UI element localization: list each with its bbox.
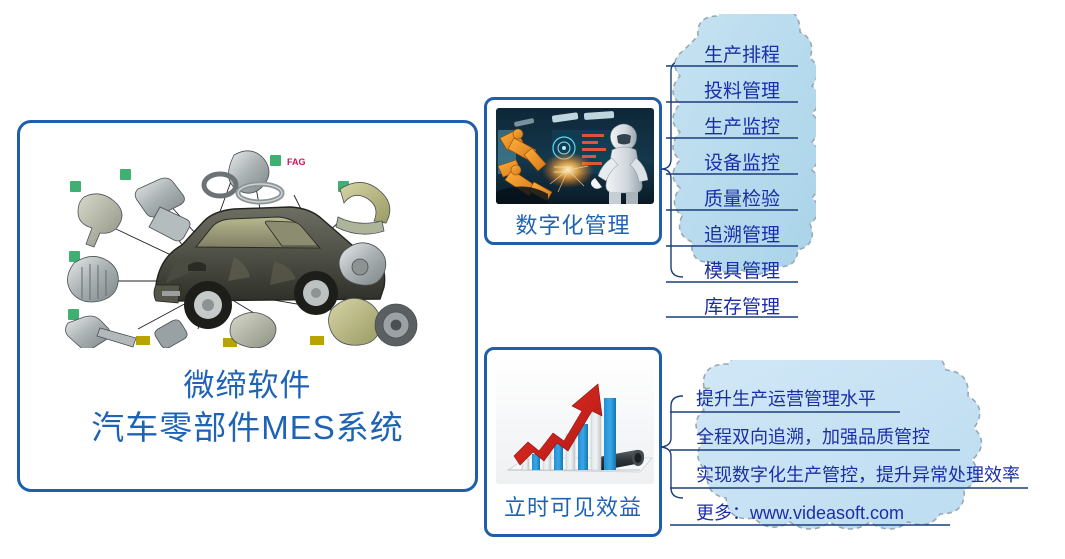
modules-underlines: [662, 14, 802, 324]
benefits-underlines: [668, 360, 1038, 540]
card-digital-management-label: 数字化管理: [487, 208, 659, 240]
car-exploded-parts-illustration: FAG FAG: [38, 133, 458, 348]
card-visible-benefit-label: 立时可见效益: [487, 490, 659, 522]
growth-bar-chart-arrow-photo: [496, 358, 654, 484]
diagram-canvas: FAG FAG: [0, 0, 1065, 559]
smart-factory-robot-photo: [496, 108, 654, 204]
page-title: 微缔软件 汽车零部件MES系统: [20, 368, 475, 448]
hero-title-line1: 微缔软件: [20, 368, 475, 405]
svg-text:FAG: FAG: [287, 157, 306, 167]
card-digital-management[interactable]: 数字化管理: [484, 97, 662, 245]
card-visible-benefit[interactable]: 立时可见效益: [484, 347, 662, 537]
hero-panel: FAG FAG: [17, 120, 478, 492]
hero-title-line2: 汽车零部件MES系统: [20, 409, 475, 448]
